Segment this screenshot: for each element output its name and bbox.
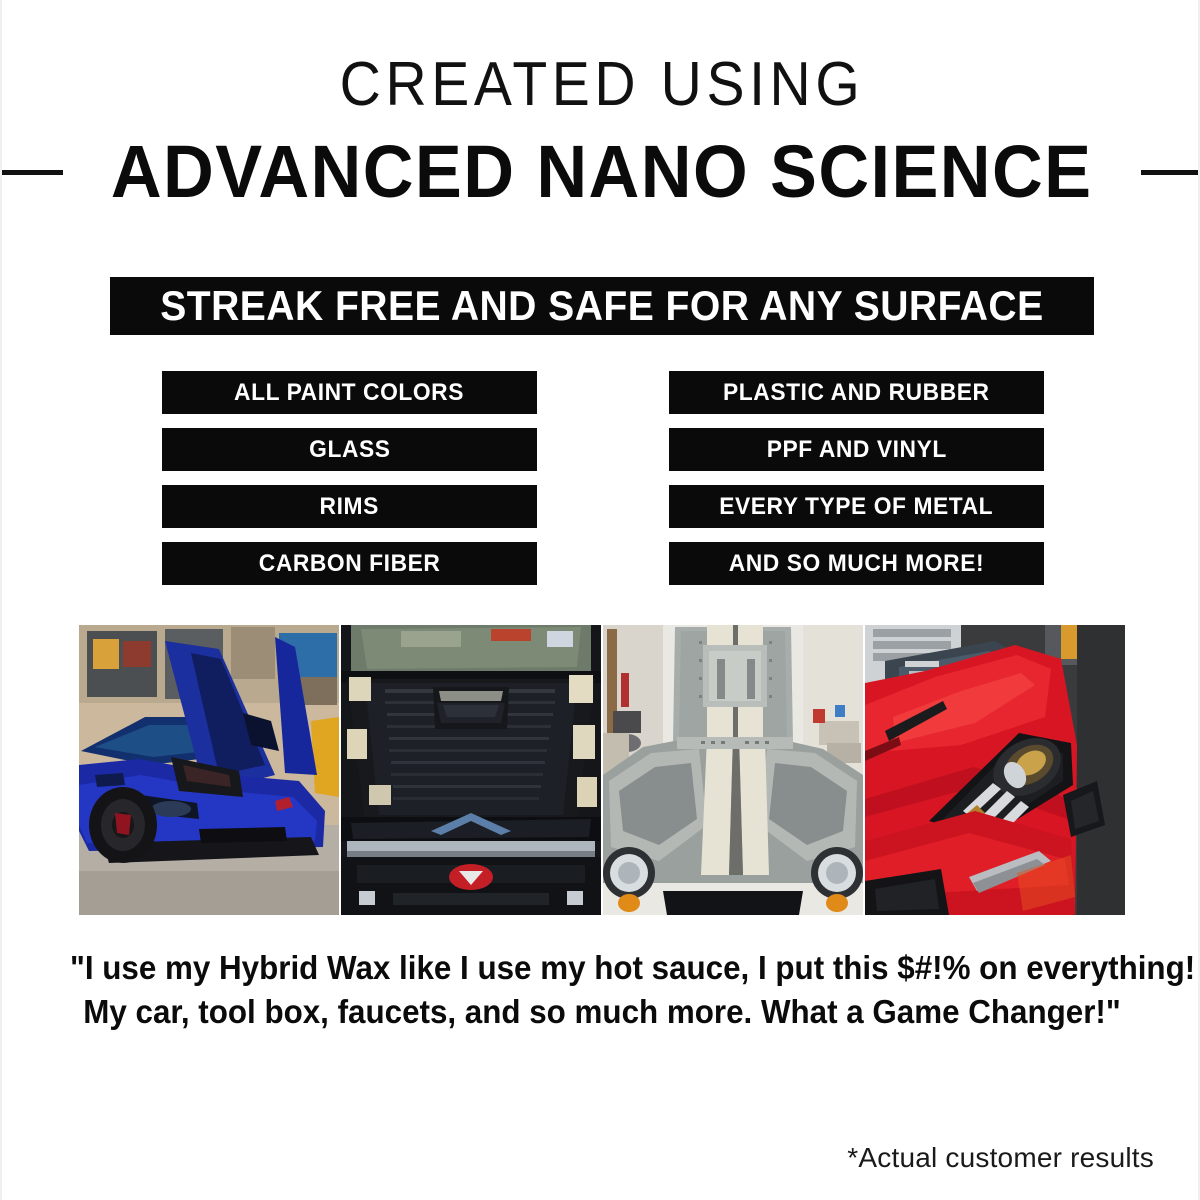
surface-list-left-column: ALL PAINT COLORS GLASS RIMS CARBON FIBER [162,371,537,585]
surface-list: ALL PAINT COLORS GLASS RIMS CARBON FIBER… [162,371,1044,585]
testimonial-line-2: My car, tool box, faucets, and so much m… [70,990,1134,1034]
gallery-photo-blue-corvette [79,625,339,915]
surface-item-label: PPF AND VINYL [766,436,946,464]
surface-item: ALL PAINT COLORS [162,371,537,414]
surface-item: CARBON FIBER [162,542,537,585]
em-dash-rule-right-icon [1141,170,1200,175]
testimonial-line-1: "I use my Hybrid Wax like I use my hot s… [70,946,1134,990]
headline-main-row: ADVANCED NANO SCIENCE [2,132,1200,212]
headline-block: CREATED USING ADVANCED NANO SCIENCE [2,52,1200,212]
headline-eyebrow: CREATED USING [50,52,1154,118]
surface-item-label: RIMS [320,493,379,521]
banner-text: STREAK FREE AND SAFE FOR ANY SURFACE [160,282,1043,330]
testimonial-quote: "I use my Hybrid Wax like I use my hot s… [70,946,1134,1034]
promo-poster: CREATED USING ADVANCED NANO SCIENCE STRE… [0,0,1200,1200]
surface-list-right-column: PLASTIC AND RUBBER PPF AND VINYL EVERY T… [669,371,1044,585]
streak-free-banner: STREAK FREE AND SAFE FOR ANY SURFACE [110,277,1094,335]
surface-item: PLASTIC AND RUBBER [669,371,1044,414]
gallery-photo-silver-cobra [603,625,863,915]
customer-photo-gallery [79,625,1125,915]
gallery-photo-black-hood [341,625,601,915]
surface-item: AND SO MUCH MORE! [669,542,1044,585]
surface-item-label: GLASS [309,436,390,464]
surface-item-label: AND SO MUCH MORE! [729,550,984,578]
surface-item-label: CARBON FIBER [259,550,441,578]
surface-item: GLASS [162,428,537,471]
footnote-disclaimer: *Actual customer results [847,1142,1154,1174]
surface-item-label: PLASTIC AND RUBBER [723,379,990,407]
surface-item: PPF AND VINYL [669,428,1044,471]
headline-main: ADVANCED NANO SCIENCE [111,132,1093,212]
surface-item: EVERY TYPE OF METAL [669,485,1044,528]
surface-item-label: EVERY TYPE OF METAL [720,493,994,521]
surface-item: RIMS [162,485,537,528]
gallery-photo-red-mustang [865,625,1125,915]
em-dash-rule-left-icon [0,170,63,175]
surface-item-label: ALL PAINT COLORS [235,379,465,407]
